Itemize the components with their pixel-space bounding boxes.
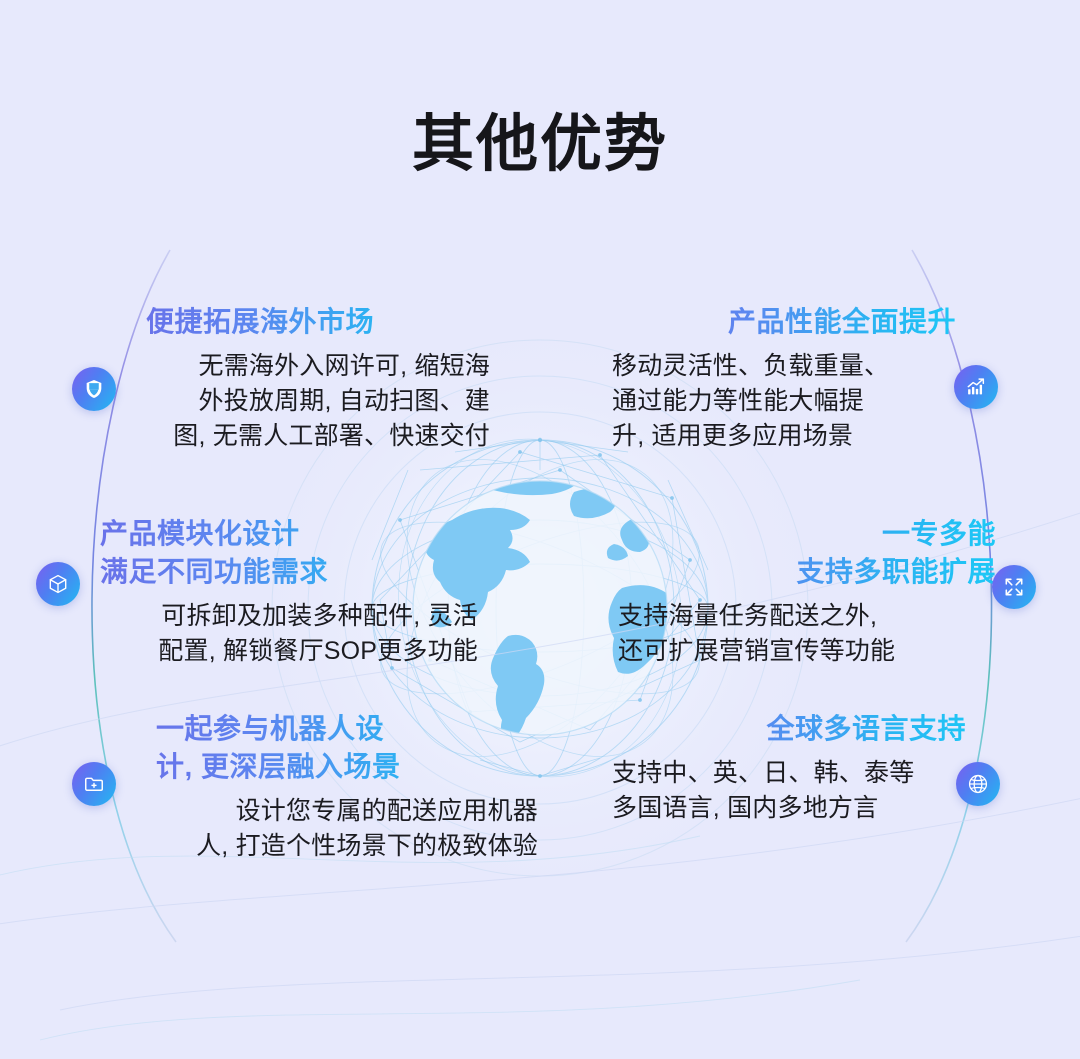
chart-growth-icon xyxy=(965,376,987,398)
feature-product-performance: 产品性能全面提升 移动灵活性、负载重量、 通过能力等性能大幅提 升, 适用更多应… xyxy=(612,303,984,454)
feature-co-design: 一起参与机器人设 计, 更深层融入场景 设计您专属的配送应用机器 人, 打造个性… xyxy=(118,710,538,864)
feature-body: 移动灵活性、负载重量、 通过能力等性能大幅提 升, 适用更多应用场景 xyxy=(612,349,984,454)
chart-growth-icon-badge xyxy=(954,365,998,409)
expand-arrows-icon xyxy=(1003,576,1025,598)
advantages-section: 其他优势 便捷拓展海外市场 无需海外入网许可, 缩短海 外投放周期, 自动扫图、… xyxy=(0,0,1080,1059)
feature-heading: 一起参与机器人设 计, 更深层融入场景 xyxy=(118,710,538,786)
feature-overseas-market: 便捷拓展海外市场 无需海外入网许可, 缩短海 外投放周期, 自动扫图、建 图, … xyxy=(118,303,490,454)
feature-heading: 便捷拓展海外市场 xyxy=(118,303,490,341)
page-title: 其他优势 xyxy=(0,108,1080,182)
feature-heading: 全球多语言支持 xyxy=(612,710,1002,748)
globe-icon xyxy=(967,773,989,795)
feature-body: 无需海外入网许可, 缩短海 外投放周期, 自动扫图、建 图, 无需人工部署、快速… xyxy=(118,349,490,454)
expand-arrows-icon-badge xyxy=(992,565,1036,609)
shield-icon-badge xyxy=(72,367,116,411)
shield-icon xyxy=(83,378,105,400)
folder-plus-icon xyxy=(83,773,105,795)
feature-heading: 产品性能全面提升 xyxy=(612,303,984,341)
feature-body: 可拆卸及加装多种配件, 灵活 配置, 解锁餐厅SOP更多功能 xyxy=(78,599,478,669)
folder-plus-icon-badge xyxy=(72,762,116,806)
feature-heading: 产品模块化设计 满足不同功能需求 xyxy=(78,515,478,591)
feature-multi-language: 全球多语言支持 支持中、英、日、韩、泰等 多国语言, 国内多地方言 xyxy=(612,710,1002,826)
feature-heading: 一专多能 支持多职能扩展 xyxy=(618,515,1018,591)
feature-body: 支持海量任务配送之外, 还可扩展营销宣传等功能 xyxy=(618,599,1018,669)
feature-body: 支持中、英、日、韩、泰等 多国语言, 国内多地方言 xyxy=(612,756,1002,826)
feature-modular-design: 产品模块化设计 满足不同功能需求 可拆卸及加装多种配件, 灵活 配置, 解锁餐厅… xyxy=(78,515,478,669)
cube-icon-badge xyxy=(36,562,80,606)
feature-multi-function: 一专多能 支持多职能扩展 支持海量任务配送之外, 还可扩展营销宣传等功能 xyxy=(618,515,1018,669)
globe-icon-badge xyxy=(956,762,1000,806)
feature-body: 设计您专属的配送应用机器 人, 打造个性场景下的极致体验 xyxy=(118,794,538,864)
cube-icon xyxy=(47,573,69,595)
